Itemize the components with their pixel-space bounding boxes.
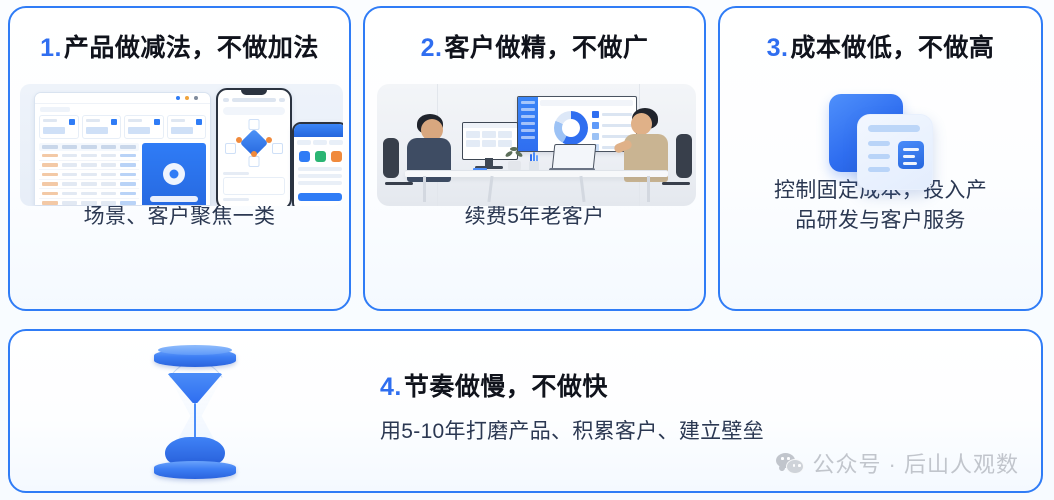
kpi-tile [39, 115, 79, 139]
kpi-tile [82, 115, 122, 139]
wechat-icon [776, 452, 804, 474]
plant-leaf [510, 147, 518, 151]
diagram-node [249, 156, 260, 167]
display-sidebar [518, 97, 538, 151]
data-table [39, 143, 139, 205]
phone-info-card [223, 177, 285, 195]
plant-leaf [505, 150, 514, 158]
laptop [549, 144, 595, 172]
desk-leg [647, 176, 650, 202]
kpi-badge-icon [196, 119, 202, 125]
table-row [39, 151, 139, 161]
diagram-node [249, 119, 260, 130]
dashboard-screen [34, 92, 211, 205]
documents-3d-icon-wrapper [720, 86, 1041, 204]
kpi-badge-icon [154, 119, 160, 125]
card-1-number: 1. [40, 34, 62, 62]
kpi-badge-icon [111, 119, 117, 125]
phone-primary-button [298, 193, 342, 201]
diagram-marker-icon [266, 137, 272, 143]
table-row [39, 180, 139, 190]
diagram-node [225, 143, 236, 154]
chair-base-right [662, 182, 690, 185]
chair-base-left [385, 182, 413, 185]
principle-card-1: 1.产品做减法，不做加法 [8, 6, 351, 311]
kpi-row [35, 112, 210, 139]
plant-leaf [515, 150, 524, 158]
diagram-marker-icon [236, 137, 242, 143]
document-list-line [868, 141, 890, 146]
slide-canvas: 1.产品做减法，不做加法 [0, 0, 1054, 500]
office-meeting-image [377, 84, 696, 206]
hourglass-lid [158, 345, 232, 355]
principle-card-3: 3.成本做低，不做高 控制固定成本，投入产 [718, 6, 1043, 311]
phone-tab-bar [294, 137, 343, 148]
phone-app-screen [216, 88, 292, 206]
diagram-node [272, 143, 283, 154]
card-3-title: 3.成本做低，不做高 [720, 28, 1041, 64]
donut-chart [554, 111, 588, 145]
topbar-dot-icon [185, 96, 189, 100]
card-2-number: 2. [421, 34, 443, 62]
document-list-line [868, 154, 890, 159]
watermark: 公众号 · 后山人观数 [776, 447, 1019, 479]
promo-button [150, 196, 198, 202]
card-3-number: 3. [767, 34, 789, 62]
kpi-badge-icon [69, 119, 75, 125]
phone-section-label [223, 172, 249, 175]
hourglass-cap-top [154, 349, 236, 367]
table-row [39, 189, 139, 199]
documents-icon [823, 90, 939, 194]
card-1-desc-line: 场景、客户聚焦一类 [26, 202, 333, 232]
product-screens-collage-image [20, 84, 343, 206]
card-2-title: 2.客户做精，不做广 [365, 28, 704, 64]
person-head [631, 113, 652, 135]
dashboard-topbar [35, 93, 210, 104]
card-4-text-block: 4.节奏做慢，不做快 用5-10年打磨产品、积累客户、建立壁垒 [380, 367, 764, 445]
phone-list [294, 165, 343, 190]
chair-left [383, 138, 399, 178]
desk-leg [487, 176, 493, 202]
table-row [39, 170, 139, 180]
principle-card-2: 2.客户做精，不做广 [363, 6, 706, 311]
principle-card-4: 4.节奏做慢，不做快 用5-10年打磨产品、积累客户、建立壁垒 公众号 · 后山… [8, 329, 1043, 493]
dashboard-body [35, 139, 210, 205]
table-header [39, 143, 139, 151]
phone-header [294, 124, 343, 137]
topbar-dot-icon [176, 96, 180, 100]
chair-right [676, 134, 692, 178]
card-1-title-text: 产品做减法，不做加法 [64, 34, 319, 62]
hourglass-cap-bottom [154, 461, 236, 479]
wechat-bubble-small [786, 459, 804, 474]
display-searchbar [540, 100, 633, 106]
hourglass-icon [147, 347, 243, 481]
card-3-desc-line: 品研发与客户服务 [736, 206, 1025, 236]
document-title-line [868, 125, 920, 132]
phone-search-field [223, 107, 285, 115]
desk-leg [579, 176, 585, 202]
card-2-title-text: 客户做精，不做广 [444, 34, 648, 62]
card-4-title-text: 节奏做慢，不做快 [404, 373, 608, 401]
laptop-screen [552, 144, 597, 170]
document-front-card [857, 114, 933, 190]
topbar-dot-icon [194, 96, 198, 100]
pen-cup [529, 152, 539, 172]
phone-section-label [223, 198, 249, 201]
action-icon [315, 151, 326, 162]
card-1-title: 1.产品做减法，不做加法 [10, 28, 349, 64]
desk-surface [405, 170, 668, 177]
flow-diagram-icon [222, 117, 286, 169]
kpi-tile [167, 115, 207, 139]
wechat-eye [787, 457, 790, 460]
hourglass-sand-bottom [165, 437, 225, 463]
card-4-title: 4.节奏做慢，不做快 [380, 367, 764, 403]
table-row [39, 199, 139, 206]
phone-quick-actions [294, 148, 343, 165]
card-4-subtitle: 用5-10年打磨产品、积累客户、建立壁垒 [380, 415, 764, 445]
action-icon [299, 151, 310, 162]
wechat-eye [798, 464, 801, 467]
diagram-marker-icon [251, 151, 257, 157]
kpi-tile [124, 115, 164, 139]
watermark-text: 公众号 · 后山人观数 [812, 447, 1019, 479]
table-row [39, 161, 139, 171]
phone-appbar [218, 95, 290, 105]
action-icon [331, 151, 342, 162]
card-3-title-text: 成本做低，不做高 [790, 34, 994, 62]
card-4-number: 4. [380, 373, 402, 401]
desk-plant [505, 146, 523, 172]
desk-leg [423, 176, 426, 202]
promo-panel [142, 143, 206, 205]
avatar-icon [163, 163, 185, 185]
phone-secondary-screen [292, 122, 343, 206]
document-list-line [868, 167, 890, 172]
wechat-eye [781, 457, 784, 460]
document-highlight-block [898, 141, 924, 169]
card-2-desc-line: 续费5年老客户 [381, 202, 688, 232]
